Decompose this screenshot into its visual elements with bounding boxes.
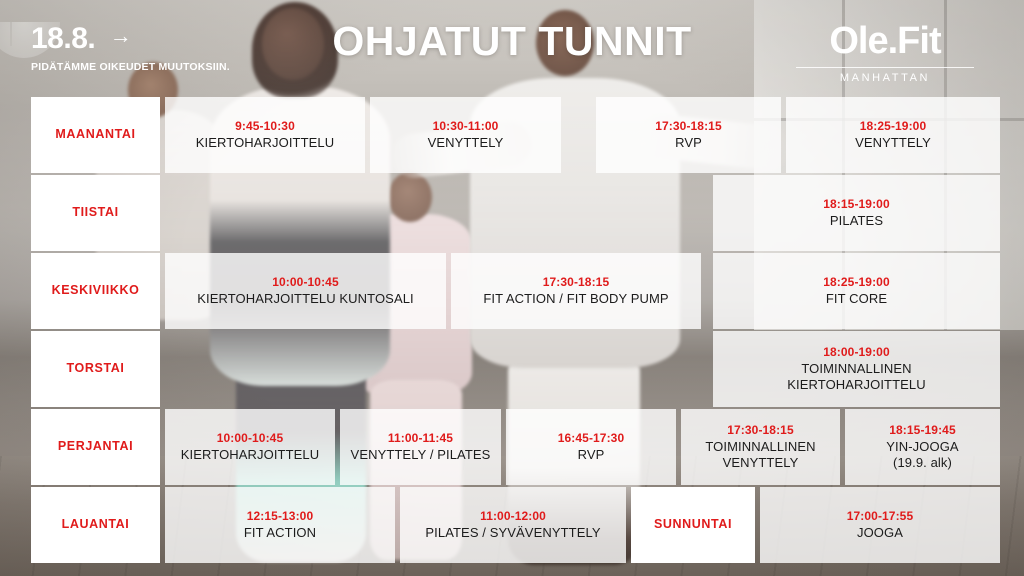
day-label-cell-friday: PERJANTAI [31,409,160,485]
class-time: 11:00-12:00 [480,509,546,524]
day-label-cell-monday: MAANANTAI [31,97,160,173]
class-time: 10:30-11:00 [433,119,499,134]
class-cell[interactable]: 17:30-18:15 TOIMINNALLINEN VENYTTELY [681,409,840,485]
logo-wordmark: Ole.Fit [790,22,980,62]
class-cell[interactable]: 10:00-10:45 KIERTOHARJOITTELU KUNTOSALI [165,253,446,329]
day-label: MAANANTAI [55,127,135,142]
class-name: RVP [578,447,605,463]
class-name-line2: (19.9. alk) [893,455,952,471]
class-name: KIERTOHARJOITTELU [196,135,334,151]
class-name: FIT ACTION / FIT BODY PUMP [483,291,668,307]
class-name: TOIMINNALLINEN [801,361,911,377]
class-cell[interactable]: 17:00-17:55 JOOGA [760,487,1000,563]
class-name: JOOGA [857,525,903,541]
class-time: 17:00-17:55 [847,509,913,524]
brand-logo: Ole.Fit MANHATTAN [790,22,980,84]
class-name: PILATES [830,213,883,229]
class-time: 18:25-19:00 [823,275,889,290]
schedule-row-saturday-sunday: LAUANTAI 12:15-13:00 FIT ACTION 11:00-12… [31,487,1000,563]
day-label: PERJANTAI [58,439,133,454]
day-label: LAUANTAI [62,517,130,532]
day-label: KESKIVIIKKO [52,283,140,298]
class-name: FIT CORE [826,291,887,307]
day-label-cell-saturday: LAUANTAI [31,487,160,563]
class-name: KIERTOHARJOITTELU [181,447,319,463]
day-label-cell-thursday: TORSTAI [31,331,160,407]
logo-location: MANHATTAN [790,72,980,84]
logo-divider [796,67,974,68]
schedule-row-friday: PERJANTAI 10:00-10:45 KIERTOHARJOITTELU … [31,409,1000,485]
schedule-row-thursday: TORSTAI 18:00-19:00 TOIMINNALLINEN KIERT… [31,331,1000,407]
class-name-line2: KIERTOHARJOITTELU [787,377,925,393]
class-cell[interactable]: 11:00-11:45 VENYTTELY / PILATES [340,409,501,485]
class-cell[interactable]: 18:25-19:00 FIT CORE [713,253,1000,329]
class-cell[interactable]: 17:30-18:15 RVP [596,97,781,173]
schedule-row-wednesday: KESKIVIIKKO 10:00-10:45 KIERTOHARJOITTEL… [31,253,1000,329]
class-time: 18:15-19:45 [889,423,955,438]
class-name: TOIMINNALLINEN [705,439,815,455]
class-cell[interactable]: 11:00-12:00 PILATES / SYVÄVENYTTELY [400,487,626,563]
class-time: 9:45-10:30 [235,119,295,134]
class-cell[interactable]: 16:45-17:30 RVP [506,409,676,485]
class-time: 17:30-18:15 [727,423,793,438]
class-name: KIERTOHARJOITTELU KUNTOSALI [197,291,414,307]
class-time: 11:00-11:45 [388,431,453,446]
class-cell[interactable]: 12:15-13:00 FIT ACTION [165,487,395,563]
day-label-cell-wednesday: KESKIVIIKKO [31,253,160,329]
class-time: 12:15-13:00 [247,509,313,524]
schedule-row-tuesday: TIISTAI 18:15-19:00 PILATES [31,175,1000,251]
class-cell[interactable]: 18:25-19:00 VENYTTELY [786,97,1000,173]
class-cell[interactable]: 18:00-19:00 TOIMINNALLINEN KIERTOHARJOIT… [713,331,1000,407]
class-cell[interactable]: 18:15-19:45 YIN-JOOGA (19.9. alk) [845,409,1000,485]
class-cell[interactable]: 10:30-11:00 VENYTTELY [370,97,561,173]
class-time: 17:30-18:15 [543,275,609,290]
class-name: RVP [675,135,702,151]
class-time: 18:15-19:00 [823,197,889,212]
class-time: 10:00-10:45 [272,275,338,290]
class-name: VENYTTELY [428,135,504,151]
class-time: 17:30-18:15 [655,119,721,134]
class-name: PILATES / SYVÄVENYTTELY [425,525,600,541]
schedule-row-monday: MAANANTAI 9:45-10:30 KIERTOHARJOITTELU 1… [31,97,1000,173]
class-time: 16:45-17:30 [558,431,624,446]
day-label: TORSTAI [67,361,125,376]
day-label: SUNNUNTAI [654,517,732,532]
day-label-cell-tuesday: TIISTAI [31,175,160,251]
class-cell[interactable]: 10:00-10:45 KIERTOHARJOITTELU [165,409,335,485]
day-label-cell-sunday: SUNNUNTAI [631,487,755,563]
class-cell[interactable]: 18:15-19:00 PILATES [713,175,1000,251]
class-name: VENYTTELY / PILATES [351,447,491,463]
class-cell[interactable]: 17:30-18:15 FIT ACTION / FIT BODY PUMP [451,253,701,329]
class-time: 18:00-19:00 [823,345,889,360]
class-name: YIN-JOOGA [886,439,958,455]
class-time: 18:25-19:00 [860,119,926,134]
day-label: TIISTAI [72,205,118,220]
class-name: VENYTTELY [855,135,931,151]
class-time: 10:00-10:45 [217,431,283,446]
class-schedule-grid: MAANANTAI 9:45-10:30 KIERTOHARJOITTELU 1… [31,97,1000,565]
class-name-line2: VENYTTELY [723,455,799,471]
class-name: FIT ACTION [244,525,316,541]
class-cell[interactable]: 9:45-10:30 KIERTOHARJOITTELU [165,97,365,173]
